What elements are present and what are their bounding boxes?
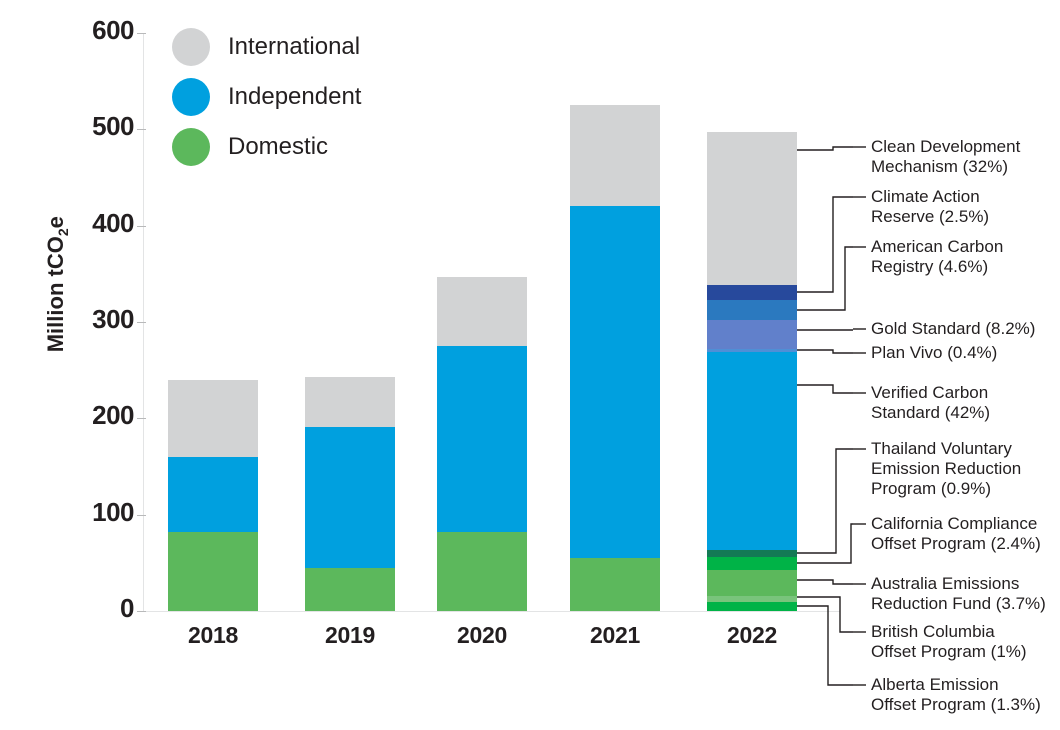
callout-leader-lines <box>0 0 1060 730</box>
callout-label-plan-vivo-0-4-: Plan Vivo (0.4%) <box>871 343 997 363</box>
callout-label-gold-standard-8-2-: Gold Standard (8.2%) <box>871 319 1035 339</box>
callout-label-verified-carbon: Verified Carbon Standard (42%) <box>871 383 990 423</box>
callout-leader-american-carbon <box>797 247 853 310</box>
callout-label-alberta-emission: Alberta Emission Offset Program (1.3%) <box>871 675 1041 715</box>
callout-leader-plan-vivo-0-4- <box>797 350 853 353</box>
callout-label-british-columbia: British Columbia Offset Program (1%) <box>871 622 1027 662</box>
callout-label-thailand-voluntary: Thailand Voluntary Emission Reduction Pr… <box>871 439 1021 499</box>
callout-label-american-carbon: American Carbon Registry (4.6%) <box>871 237 1003 277</box>
callout-leader-british-columbia <box>797 597 853 632</box>
callout-leader-australia-emissions <box>797 580 853 584</box>
callout-leader-verified-carbon <box>797 385 853 393</box>
callout-leader-thailand-voluntary <box>797 449 853 553</box>
callout-label-climate-action: Climate Action Reserve (2.5%) <box>871 187 989 227</box>
callout-label-australia-emissions: Australia Emissions Reduction Fund (3.7%… <box>871 574 1046 614</box>
callout-label-clean-development: Clean Development Mechanism (32%) <box>871 137 1020 177</box>
stacked-bar-chart: Million tCO2e 6005004003002001000 201820… <box>0 0 1060 730</box>
callout-leader-alberta-emission <box>797 606 853 685</box>
callout-leader-california-compliance <box>797 524 853 563</box>
callout-leader-clean-development <box>797 147 853 150</box>
callout-label-california-compliance: California Compliance Offset Program (2.… <box>871 514 1041 554</box>
